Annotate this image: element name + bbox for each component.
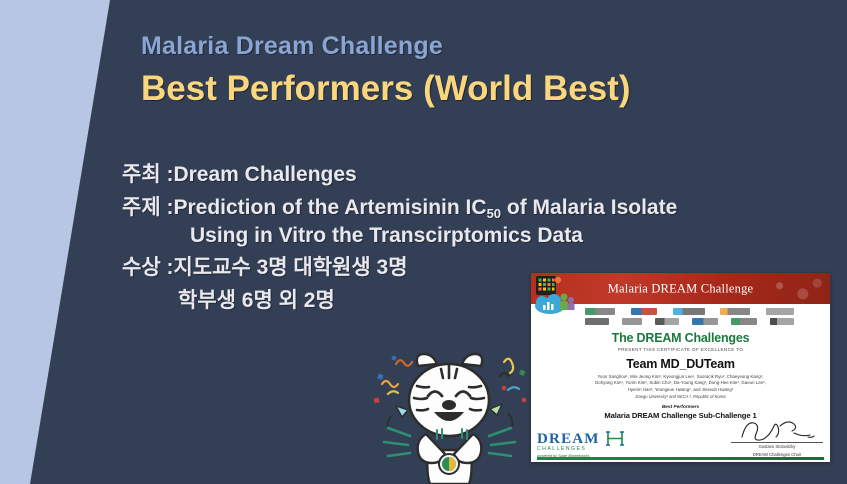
topic-value: Prediction of the Artemisinin IC50 of Ma… — [173, 196, 677, 220]
certificate-heading: The DREAM Challenges — [539, 331, 822, 345]
certificate-body: The DREAM Challenges PRESENT THIS CERTIF… — [531, 328, 830, 420]
slide-kicker: Malaria Dream Challenge — [141, 32, 630, 61]
sponsor-logo-row-1 — [585, 307, 794, 316]
dream-bracket-icon — [605, 431, 625, 446]
award-value: 지도교수 3명 대학원생 3명 — [173, 251, 407, 281]
certificate-present-line: PRESENT THIS CERTIFICATE OF EXCELLENCE T… — [539, 347, 822, 352]
sponsor-logo-row-2 — [585, 317, 794, 326]
dream-logo-word: DREAM — [537, 432, 600, 447]
organizer-value: Dream Challenges — [173, 163, 356, 187]
dream-challenges-logo: DREAM CHALLENGES powered by Sage Bionetw… — [537, 431, 625, 459]
ic50-subscript: 50 — [487, 206, 501, 221]
page-title: Best Performers (World Best) — [141, 67, 630, 111]
data-cloud-icon — [534, 275, 580, 315]
signature-block: Gustavo Stolovitzky DREAM Challenges Cha… — [731, 417, 823, 458]
topic-value-line2: Using in Vitro the Transcirptomics Data — [190, 224, 677, 248]
signature-icon — [734, 417, 820, 443]
topic-value-post: of Malaria Isolate — [501, 196, 677, 219]
certificate-image: Malaria DREAM Challenge — [531, 273, 830, 462]
certificate-team-name: Team MD_DUTeam — [539, 357, 822, 371]
certificate-authors: Yoon Sanghoo¹, Min-Jeong Kim², Kyeongjun… — [539, 374, 822, 401]
authors-line-3: Hyerim Han², Yeongeun Hwang², and Jinseu… — [539, 387, 822, 394]
signer-name: Gustavo Stolovitzky — [731, 444, 823, 450]
dream-logo-subtitle: CHALLENGES — [537, 447, 625, 452]
organizer-row: 주최 : Dream Challenges — [122, 158, 677, 188]
certificate-affiliation: Daegu University¹ and NECA ², Republic o… — [539, 394, 822, 400]
organizer-label: 주최 : — [122, 158, 173, 188]
award-label: 수상 : — [122, 251, 173, 281]
heading-block: Malaria Dream Challenge Best Performers … — [141, 32, 630, 111]
white-tiger-mascot — [362, 342, 537, 484]
slide-canvas: Malaria Dream Challenge Best Performers … — [0, 0, 847, 484]
certificate-footer: DREAM CHALLENGES powered by Sage Bionetw… — [531, 418, 830, 462]
certificate-banner-title: Malaria DREAM Challenge — [608, 281, 754, 296]
signature-line — [731, 417, 823, 443]
left-accent-wedge — [0, 0, 120, 484]
topic-value-pre: Prediction of the Artemisinin IC — [173, 196, 486, 219]
topic-label: 주제 : — [122, 191, 173, 221]
certificate-best-performers: Best Performers — [539, 405, 822, 410]
topic-row: 주제 : Prediction of the Artemisinin IC50 … — [122, 191, 677, 221]
certificate-bottom-bar — [537, 457, 824, 460]
